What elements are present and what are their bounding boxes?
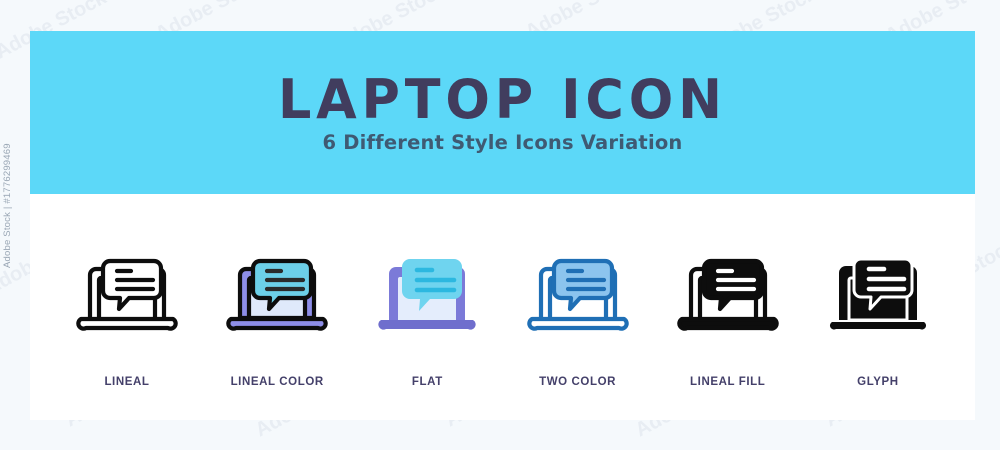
page-title: LAPTOP ICON — [278, 73, 727, 127]
icon-cell-lineal[interactable]: LINEAL — [52, 194, 202, 388]
icon-variations-panel: LINEAL LINEAL COLOR — [30, 194, 975, 420]
icon-set-canvas: Adobe Stock Adobe Stock Adobe Stock Adob… — [0, 0, 1000, 450]
laptop-chat-two-color-icon[interactable] — [525, 234, 631, 350]
header-banner: LAPTOP ICON 6 Different Style Icons Vari… — [30, 31, 975, 194]
laptop-chat-lineal-fill-svg — [675, 242, 781, 342]
laptop-chat-lineal-svg — [74, 242, 180, 342]
icon-label-glyph: GLYPH — [857, 376, 899, 388]
laptop-chat-flat-icon[interactable] — [374, 234, 480, 350]
icon-label-lineal: LINEAL — [104, 376, 149, 388]
laptop-chat-lineal-color-svg — [224, 242, 330, 342]
stock-watermark-label: Adobe Stock | #1776299469 — [2, 143, 13, 268]
icon-cell-flat[interactable]: FLAT — [352, 194, 502, 388]
icon-cell-lineal-fill[interactable]: LINEAL FILL — [653, 194, 803, 388]
icon-label-flat: FLAT — [412, 376, 443, 388]
icon-cell-two-color[interactable]: TWO COLOR — [503, 194, 653, 388]
laptop-chat-glyph-icon[interactable] — [825, 234, 931, 350]
laptop-chat-glyph-svg — [825, 242, 931, 342]
icon-cell-glyph[interactable]: GLYPH — [803, 194, 953, 388]
icon-label-two-color: TWO COLOR — [539, 376, 616, 388]
icon-label-lineal-fill: LINEAL FILL — [690, 376, 765, 388]
laptop-chat-lineal-color-icon[interactable] — [224, 234, 330, 350]
icon-cell-lineal-color[interactable]: LINEAL COLOR — [202, 194, 352, 388]
icon-label-lineal-color: LINEAL COLOR — [231, 376, 324, 388]
laptop-chat-two-color-svg — [525, 242, 631, 342]
laptop-chat-flat-svg — [374, 242, 480, 342]
laptop-chat-lineal-icon[interactable] — [74, 234, 180, 350]
laptop-chat-lineal-fill-icon[interactable] — [675, 234, 781, 350]
page-subtitle: 6 Different Style Icons Variation — [322, 133, 682, 153]
